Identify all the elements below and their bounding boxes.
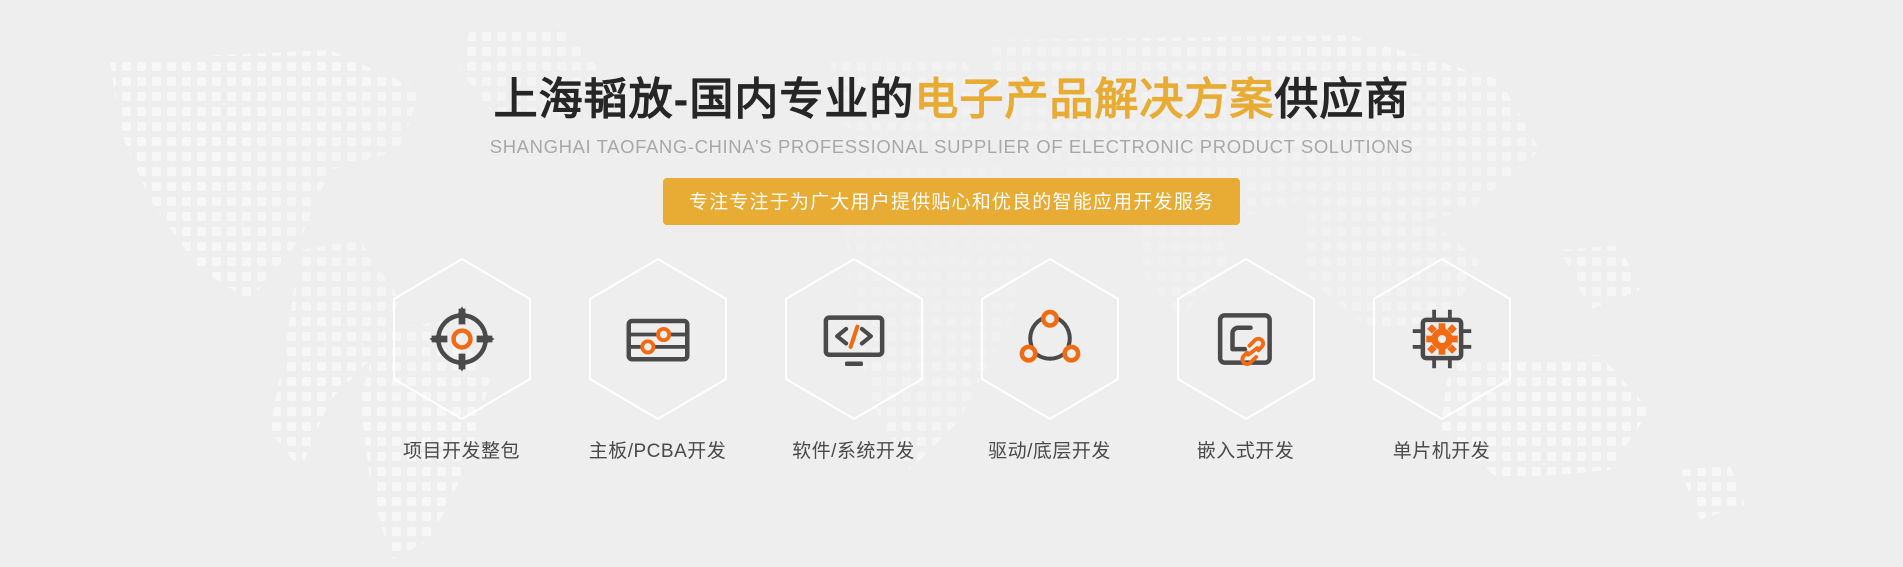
hexagon-frame xyxy=(1172,255,1320,423)
headline-lead: 上海韬放-国内专业的 xyxy=(494,75,915,124)
service-label: 主板/PCBA开发 xyxy=(560,436,756,463)
hexagon-frame xyxy=(780,255,928,423)
service-item-driver[interactable]: 驱动/底层开发 xyxy=(952,255,1148,463)
circuit-board-icon xyxy=(622,303,694,375)
hero-banner: 上海韬放-国内专业的电子产品解决方案供应商 SHANGHAI TAOFANG-C… xyxy=(0,0,1903,567)
service-label: 单片机开发 xyxy=(1344,436,1540,463)
page-title: 上海韬放-国内专业的电子产品解决方案供应商 xyxy=(0,0,1903,124)
service-item-embedded[interactable]: 嵌入式开发 xyxy=(1148,255,1344,463)
tagline-badge: 专注专注于为广大用户提供贴心和优良的智能应用开发服务 xyxy=(663,178,1240,225)
page-subtitle: SHANGHAI TAOFANG-CHINA'S PROFESSIONAL SU… xyxy=(0,136,1903,158)
headline-accent: 电子产品解决方案 xyxy=(914,75,1274,124)
hexagon-frame xyxy=(388,255,536,423)
service-label: 项目开发整包 xyxy=(364,436,560,463)
hexagon-frame xyxy=(976,255,1124,423)
embedded-chip-link-icon xyxy=(1210,303,1282,375)
service-label: 软件/系统开发 xyxy=(756,436,952,463)
service-item-project-package[interactable]: 项目开发整包 xyxy=(364,255,560,463)
monitor-code-icon xyxy=(818,303,890,375)
tagline-badge-wrapper: 专注专注于为广大用户提供贴心和优良的智能应用开发服务 xyxy=(0,178,1903,225)
service-list: 项目开发整包 xyxy=(0,255,1903,463)
service-item-pcba[interactable]: 主板/PCBA开发 xyxy=(560,255,756,463)
target-crosshair-icon xyxy=(426,303,498,375)
service-item-software[interactable]: 软件/系统开发 xyxy=(756,255,952,463)
node-network-icon xyxy=(1014,303,1086,375)
service-label: 嵌入式开发 xyxy=(1148,436,1344,463)
banner-content: 上海韬放-国内专业的电子产品解决方案供应商 SHANGHAI TAOFANG-C… xyxy=(0,0,1903,463)
headline-tail: 供应商 xyxy=(1274,75,1409,124)
service-label: 驱动/底层开发 xyxy=(952,436,1148,463)
service-item-mcu[interactable]: 单片机开发 xyxy=(1344,255,1540,463)
hexagon-frame xyxy=(1368,255,1516,423)
hexagon-frame xyxy=(584,255,732,423)
microcontroller-gear-icon xyxy=(1406,303,1478,375)
